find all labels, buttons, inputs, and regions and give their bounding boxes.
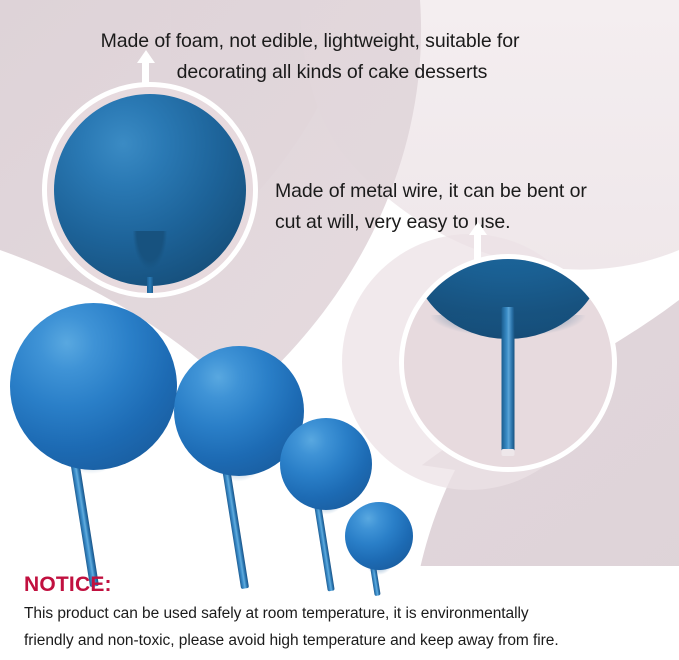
notice-body: This product can be used safely at room … — [24, 600, 664, 654]
product-infographic: Made of foam, not edible, lightweight, s… — [0, 0, 679, 660]
callout-foam-text: Made of foam, not edible, lightweight, s… — [0, 26, 620, 88]
notice-body-line-1: This product can be used safely at room … — [24, 600, 664, 627]
callout-foam-line-1: Made of foam, not edible, lightweight, s… — [0, 26, 620, 57]
product-ball-largest — [10, 303, 177, 470]
callout-wire-line-2: cut at will, very easy to use. — [275, 207, 587, 238]
notice-block: NOTICE: This product can be used safely … — [24, 572, 664, 654]
callout-wire-line-1: Made of metal wire, it can be bent or — [275, 176, 587, 207]
zoomed-metal-wire — [502, 307, 515, 452]
callout-wire-text: Made of metal wire, it can be bent or cu… — [275, 176, 587, 238]
notice-heading: NOTICE: — [24, 572, 664, 598]
callout-foam-line-2: decorating all kinds of cake desserts — [0, 57, 620, 88]
magnifier-wire-content — [404, 259, 612, 467]
product-ball-medium — [280, 418, 372, 510]
magnifier-wire-closeup — [399, 254, 617, 472]
magnifier-foam-content — [47, 87, 253, 293]
product-ball-small — [345, 502, 413, 570]
notice-body-line-2: friendly and non-toxic, please avoid hig… — [24, 627, 664, 654]
magnifier-foam-closeup — [42, 82, 258, 298]
zoomed-foam-ball-stem — [147, 277, 153, 298]
